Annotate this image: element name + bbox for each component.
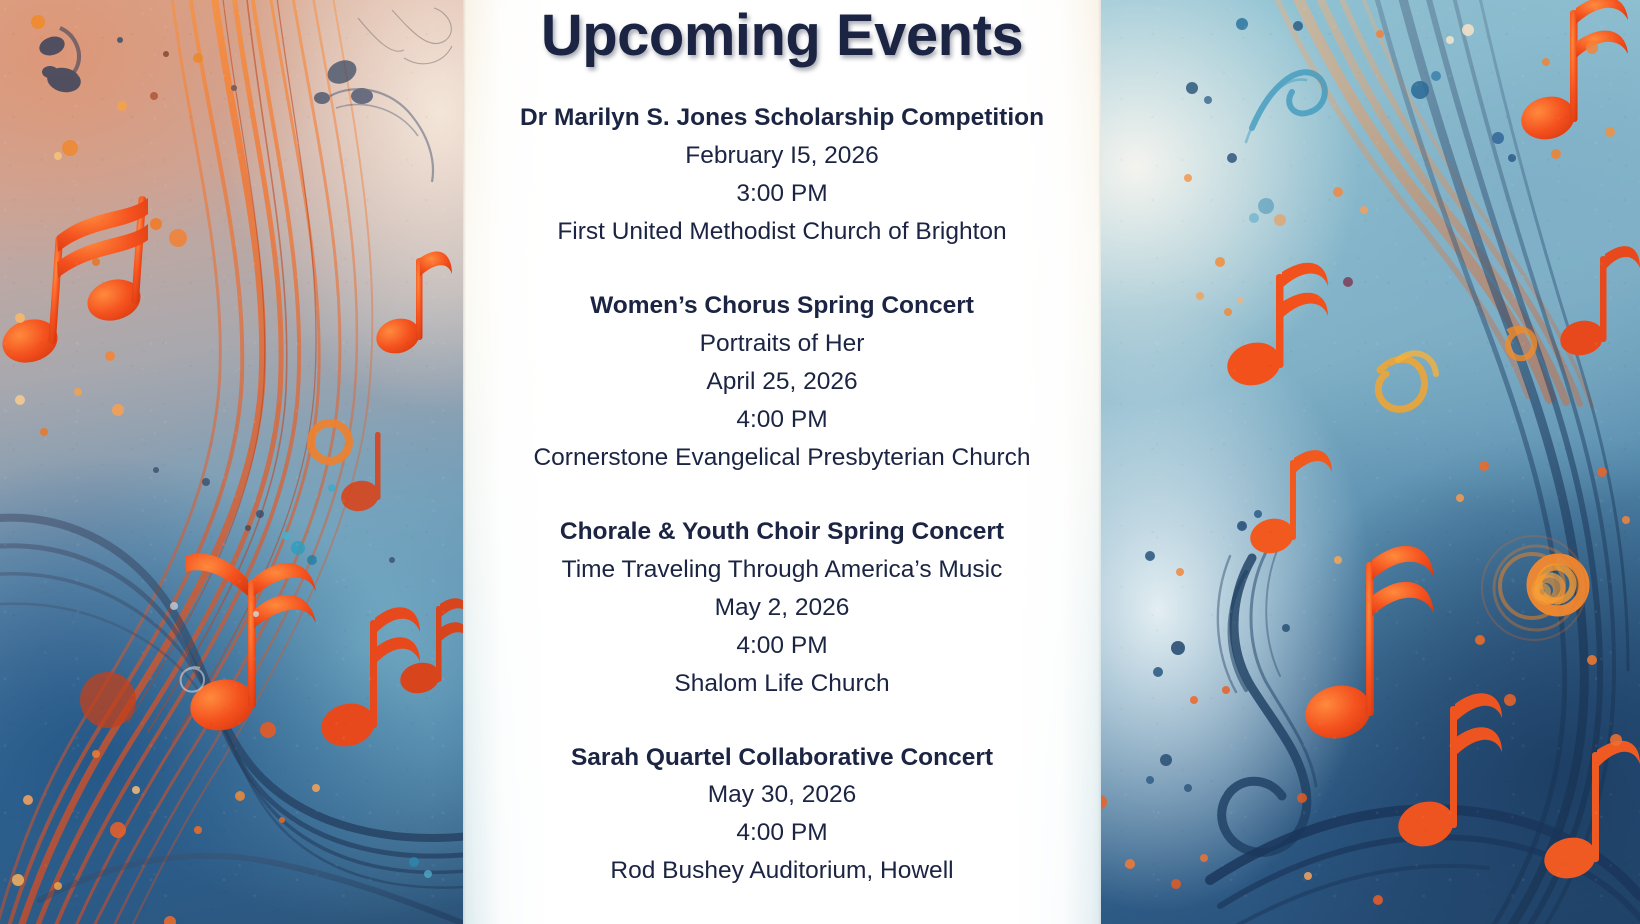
event-venue: Rod Bushey Auditorium, Howell <box>463 852 1101 890</box>
event-venue: Cornerstone Evangelical Presbyterian Chu… <box>463 439 1101 477</box>
music-note-icon <box>1557 246 1640 360</box>
music-note-icon <box>1394 693 1502 852</box>
event-item: Chorale & Youth Choir Spring Concert Tim… <box>463 513 1101 703</box>
event-date: February I5, 2026 <box>463 137 1101 175</box>
event-name: Women’s Chorus Spring Concert <box>463 287 1101 325</box>
event-subtitle: Portraits of Her <box>463 325 1101 363</box>
left-artwork-panel <box>0 0 500 924</box>
music-note-icon <box>0 196 148 369</box>
music-note-icon <box>1517 0 1628 145</box>
event-date: May 30, 2026 <box>463 776 1101 814</box>
music-note-icon <box>1247 450 1332 558</box>
music-note-icon <box>311 423 382 515</box>
event-name: Sarah Quartel Collaborative Concert <box>463 739 1101 777</box>
music-note-icon <box>1300 546 1434 745</box>
event-item: Women’s Chorus Spring Concert Portraits … <box>463 287 1101 477</box>
left-artwork-strokes <box>0 0 500 924</box>
right-artwork-panel <box>1080 0 1640 924</box>
paint-splatter <box>1184 153 1286 316</box>
page-title: Upcoming Events <box>541 0 1023 69</box>
event-venue: Shalom Life Church <box>463 665 1101 703</box>
event-name: Dr Marilyn S. Jones Scholarship Competit… <box>463 99 1101 137</box>
event-time: 4:00 PM <box>463 814 1101 852</box>
event-subtitle: Time Traveling Through America’s Music <box>463 551 1101 589</box>
event-date: April 25, 2026 <box>463 363 1101 401</box>
event-time: 4:00 PM <box>463 401 1101 439</box>
right-artwork-strokes <box>1080 0 1640 924</box>
events-panel: Upcoming Events Dr Marilyn S. Jones Scho… <box>463 0 1101 924</box>
event-time: 3:00 PM <box>463 175 1101 213</box>
events-list: Dr Marilyn S. Jones Scholarship Competit… <box>463 99 1101 890</box>
event-item: Dr Marilyn S. Jones Scholarship Competit… <box>463 99 1101 251</box>
event-name: Chorale & Youth Choir Spring Concert <box>463 513 1101 551</box>
event-item: Sarah Quartel Collaborative Concert May … <box>463 739 1101 891</box>
music-note-icon <box>372 251 452 358</box>
event-venue: First United Methodist Church of Brighto… <box>463 213 1101 251</box>
music-note-icon <box>185 553 316 737</box>
event-time: 4:00 PM <box>463 627 1101 665</box>
music-note-icon <box>1223 263 1328 391</box>
poster-canvas: Upcoming Events Dr Marilyn S. Jones Scho… <box>0 0 1640 924</box>
event-date: May 2, 2026 <box>463 589 1101 627</box>
